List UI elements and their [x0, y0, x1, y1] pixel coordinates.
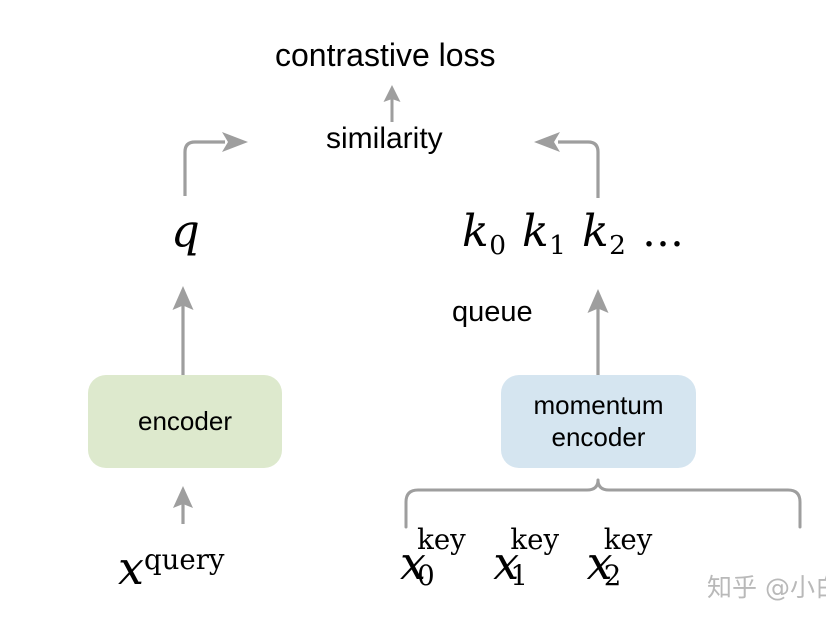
x-keys-row: x key 0 x key 1 x key 2 — [400, 540, 658, 586]
encoder-box-label: encoder — [138, 406, 232, 438]
momentum-encoder-line2: encoder — [552, 422, 646, 452]
x-key-sup-2: key — [604, 526, 653, 554]
x-key-sup-1: key — [510, 526, 559, 554]
key-sub-1: 1 — [549, 230, 566, 261]
queue-label: queue — [452, 298, 533, 327]
arrow-xquery-to-encoder — [173, 486, 193, 524]
x-key-term-2: x key 2 — [587, 540, 658, 586]
x-key-scripts-2: key 2 — [604, 526, 653, 591]
arrow-q-to-similarity — [185, 132, 248, 196]
key-term-1: k1 — [522, 210, 566, 259]
arrow-similarity-to-loss — [384, 85, 401, 122]
x-query-sup: query — [144, 543, 225, 576]
x-key-sub-2: 2 — [604, 562, 653, 590]
key-sub-0: 0 — [489, 230, 506, 261]
arrow-keys-to-similarity — [534, 132, 598, 198]
keys-row: k0 k1 k2 … — [462, 210, 687, 259]
key-sub-2: 2 — [609, 230, 626, 261]
x-key-sub-1: 1 — [510, 562, 559, 590]
arrow-momentum-encoder-to-keys — [588, 289, 609, 375]
momentum-encoder-box[interactable]: momentum encoder — [501, 375, 696, 468]
x-query-base: x — [118, 541, 144, 595]
key-base-0: k — [462, 206, 489, 257]
keys-ellipsis: … — [642, 211, 687, 253]
x-key-scripts-0: key 0 — [417, 526, 466, 591]
momentum-encoder-box-label: momentum encoder — [533, 390, 663, 453]
similarity-label: similarity — [326, 124, 443, 154]
contrastive-loss-label: contrastive loss — [275, 39, 496, 71]
diagram-canvas: contrastive loss similarity queue q k0 k… — [0, 0, 826, 634]
key-term-0: k0 — [462, 210, 506, 259]
x-key-sub-0: 0 — [417, 562, 466, 590]
watermark-text: 知乎 @小白 — [707, 568, 826, 604]
key-base-1: k — [522, 206, 549, 257]
brace-xkeys-to-momentum-encoder — [406, 480, 800, 527]
momentum-encoder-line1: momentum — [533, 390, 663, 420]
q-symbol: q — [171, 208, 200, 253]
x-key-scripts-1: key 1 — [510, 526, 559, 591]
key-term-2: k2 — [582, 210, 626, 259]
key-base-2: k — [582, 206, 609, 257]
x-query-symbol: xquery — [118, 545, 225, 591]
x-key-sup-0: key — [417, 526, 466, 554]
x-key-term-0: x key 0 — [400, 540, 471, 586]
encoder-box[interactable]: encoder — [88, 375, 282, 468]
arrow-encoder-to-q — [173, 286, 194, 375]
x-key-term-1: x key 1 — [493, 540, 564, 586]
